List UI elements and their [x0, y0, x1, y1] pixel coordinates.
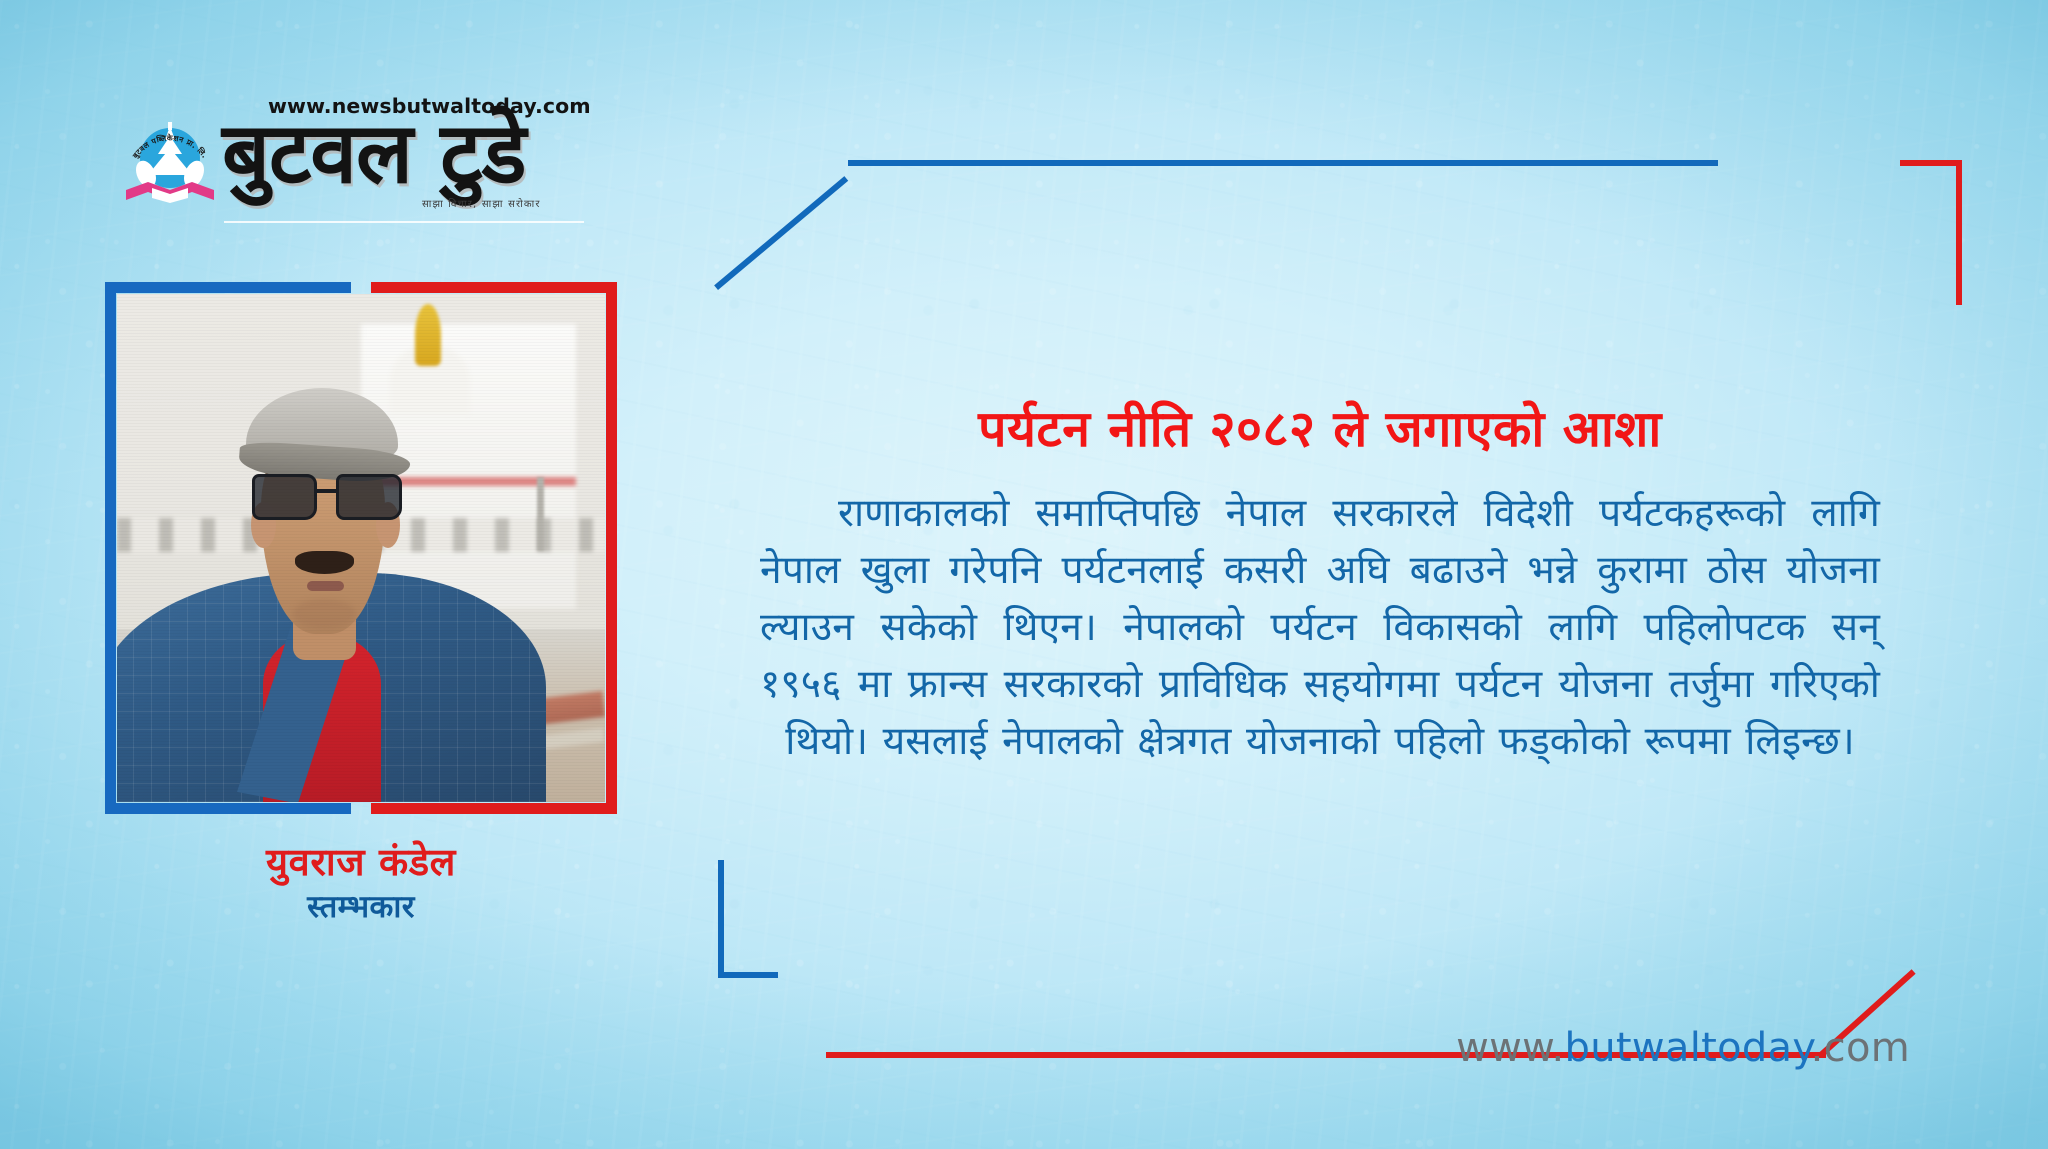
- photo-border-top-left: [105, 282, 351, 293]
- photo-border-left: [105, 282, 116, 814]
- decor-bl-vertical: [718, 860, 724, 978]
- decor-bracket-top-right: [1900, 160, 2012, 305]
- decor-bracket-top-left: [718, 160, 1718, 290]
- decor-tl-diagonal: [714, 176, 848, 290]
- logo-tagline-text: साझा विचार, साझा सरोकार: [422, 196, 541, 210]
- author-role: स्तम्भकार: [105, 887, 617, 927]
- article-body-text: राणाकालको समाप्तिपछि नेपाल सरकारले विदेश…: [760, 486, 1880, 771]
- decor-bracket-bottom-left: [718, 860, 838, 978]
- decor-tr-horizontal: [1900, 160, 1956, 166]
- publisher-emblem-icon: बुटवल पब्लिकेशन प्रा. लि.: [118, 106, 222, 210]
- photo-border-top-right: [371, 282, 617, 293]
- decor-bl-horizontal: [718, 972, 778, 978]
- author-photo-frame: [105, 282, 617, 814]
- author-name: युवराज कंडेल: [105, 838, 617, 887]
- footer-url-suffix: .com: [1811, 1025, 1910, 1071]
- article-headline: पर्यटन नीति २०८२ ले जगाएको आशा: [760, 398, 1880, 460]
- decor-tr-vertical: [1956, 160, 1962, 305]
- photo-border-right: [606, 282, 617, 814]
- decor-tl-horizontal: [848, 160, 1718, 166]
- logo-underline-divider: [224, 221, 584, 223]
- photo-border-bottom-right: [371, 803, 617, 814]
- footer-url-domain: butwaltoday: [1565, 1025, 1811, 1071]
- brand-wordmark-group: www.newsbutwaltoday.com बुटवल टुडे साझा …: [222, 92, 588, 222]
- logo-wordmark-text: बुटवल टुडे: [222, 111, 525, 195]
- brand-logo[interactable]: बुटवल पब्लिकेशन प्रा. लि. www.newsbutwal…: [118, 92, 588, 222]
- author-caption: युवराज कंडेल स्तम्भकार: [105, 838, 617, 927]
- footer-url-prefix: www.: [1456, 1025, 1564, 1071]
- photo-border-bottom-left: [105, 803, 351, 814]
- photo-grain-overlay: [117, 294, 605, 802]
- author-photo: [117, 294, 605, 802]
- footer-website-url[interactable]: www.butwaltoday.com: [1456, 1025, 1910, 1071]
- article-block: पर्यटन नीति २०८२ ले जगाएको आशा राणाकालको…: [760, 398, 1880, 771]
